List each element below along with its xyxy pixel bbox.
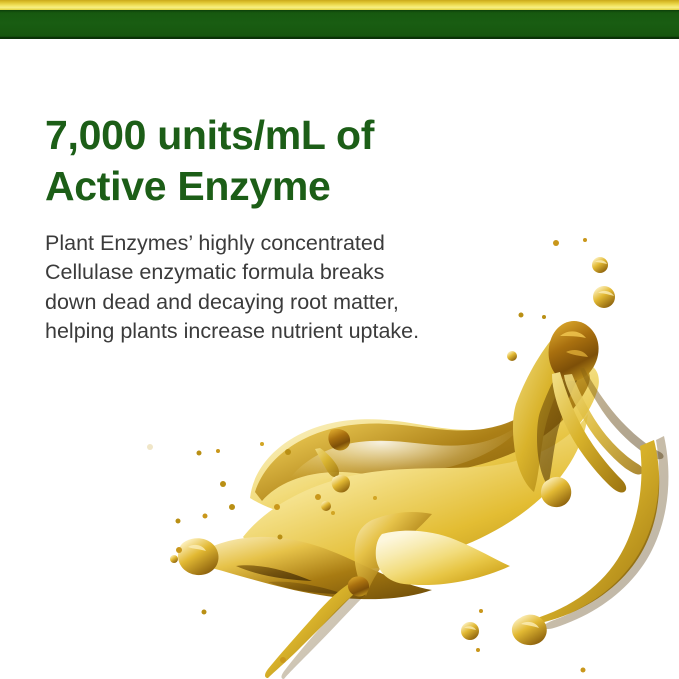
headline-line-2: Active Enzyme bbox=[45, 161, 605, 212]
product-feature-card: 7,000 units/mL of Active Enzyme Plant En… bbox=[0, 0, 679, 679]
body-line-3: down dead and decaying root matter, bbox=[45, 288, 565, 318]
headline: 7,000 units/mL of Active Enzyme bbox=[45, 110, 605, 212]
splash-tendrils bbox=[265, 429, 668, 679]
body-line-2: Cellulase enzymatic formula breaks bbox=[45, 258, 565, 288]
green-stripe bbox=[0, 10, 679, 39]
body-line-4: helping plants increase nutrient uptake. bbox=[45, 317, 565, 347]
splash-main-body bbox=[178, 330, 599, 599]
splash-upper-stream bbox=[549, 321, 664, 493]
body-paragraph: Plant Enzymes’ highly concentrated Cellu… bbox=[45, 229, 565, 347]
top-banner bbox=[0, 0, 679, 40]
headline-line-1: 7,000 units/mL of bbox=[45, 110, 605, 161]
body-line-1: Plant Enzymes’ highly concentrated bbox=[45, 229, 565, 259]
